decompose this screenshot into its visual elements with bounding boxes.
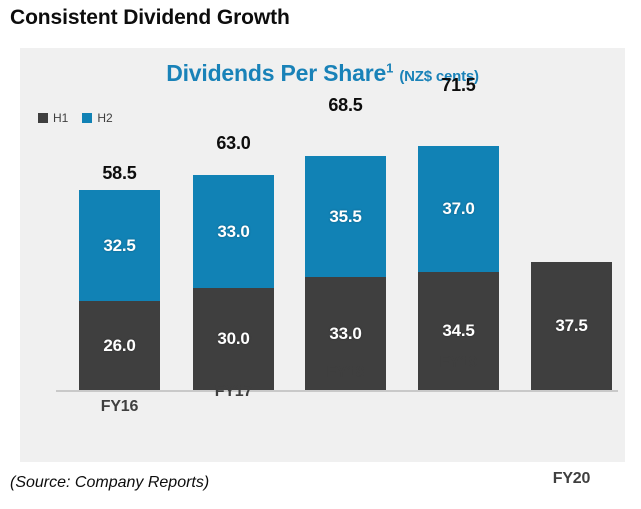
total-label-fy17: 63.0 <box>193 133 274 154</box>
total-label-fy19: 71.5 <box>418 75 499 96</box>
bar-segment-h2-fy16[interactable]: 32.5 <box>79 190 160 301</box>
bar-segment-label-h2-fy19: 37.0 <box>442 199 474 219</box>
bar-segment-h1-fy17[interactable]: 30.0 <box>193 288 274 390</box>
bar-group-fy19: 71.5 37.0 34.5 FY19 <box>418 146 499 390</box>
bar-segment-label-h2-fy18: 35.5 <box>329 207 361 227</box>
category-label-fy17: FY17 <box>193 383 274 401</box>
legend-item-h1[interactable]: H1 <box>38 112 68 124</box>
category-label-fy20: FY20 <box>531 470 612 488</box>
bar-segment-h1-fy19[interactable]: 34.5 <box>418 272 499 390</box>
source-note: (Source: Company Reports) <box>10 474 209 492</box>
bar-segment-label-h2-fy16: 32.5 <box>103 236 135 256</box>
legend-item-h2[interactable]: H2 <box>82 112 112 124</box>
bar-segment-h1-fy20[interactable]: 37.5 <box>531 262 612 390</box>
bar-segment-h1-fy16[interactable]: 26.0 <box>79 301 160 390</box>
legend-label-h1: H1 <box>53 112 68 124</box>
category-label-fy16: FY16 <box>79 398 160 416</box>
legend-label-h2: H2 <box>97 112 112 124</box>
legend-swatch-h1 <box>38 113 48 123</box>
bar-segment-label-h2-fy17: 33.0 <box>217 222 249 242</box>
chart-title-footnote-marker: 1 <box>386 60 393 75</box>
bar-group-fy16: 58.5 32.5 26.0 FY16 <box>79 190 160 390</box>
category-label-fy18: FY18 <box>305 364 386 382</box>
chart-legend: H1 H2 <box>38 112 113 124</box>
plot-area: 58.5 32.5 26.0 FY16 63.0 33.0 30.0 <box>40 144 618 392</box>
chart-title: Dividends Per Share1 (NZ$ cents) <box>20 60 625 87</box>
stacked-bar-fy16[interactable]: 32.5 26.0 <box>79 190 160 390</box>
page-title: Consistent Dividend Growth <box>10 6 290 30</box>
bar-group-fy20: 37.5 FY20 <box>531 262 612 390</box>
bar-group-fy18: 68.5 35.5 33.0 FY18 <box>305 156 386 390</box>
legend-swatch-h2 <box>82 113 92 123</box>
stacked-bar-fy20[interactable]: 37.5 <box>531 262 612 390</box>
total-label-fy16: 58.5 <box>79 163 160 184</box>
category-axis-line <box>56 390 618 392</box>
chart-title-main: Dividends Per Share <box>166 60 386 86</box>
bar-segment-label-h1-fy19: 34.5 <box>442 321 474 341</box>
stacked-bar-fy18[interactable]: 35.5 33.0 <box>305 156 386 390</box>
stacked-bar-fy17[interactable]: 33.0 30.0 <box>193 175 274 390</box>
bar-segment-label-h1-fy20: 37.5 <box>555 316 587 336</box>
bar-segment-label-h1-fy16: 26.0 <box>103 336 135 356</box>
bar-segment-h2-fy17[interactable]: 33.0 <box>193 175 274 288</box>
total-label-fy18: 68.5 <box>305 95 386 116</box>
bar-segment-h2-fy18[interactable]: 35.5 <box>305 156 386 277</box>
bar-segment-label-h1-fy17: 30.0 <box>217 329 249 349</box>
bar-group-fy17: 63.0 33.0 30.0 FY17 <box>193 175 274 390</box>
bar-segment-h2-fy19[interactable]: 37.0 <box>418 146 499 272</box>
chart-panel: Dividends Per Share1 (NZ$ cents) H1 H2 5… <box>20 48 625 462</box>
category-label-fy19: FY19 <box>418 354 499 372</box>
bar-segment-label-h1-fy18: 33.0 <box>329 324 361 344</box>
